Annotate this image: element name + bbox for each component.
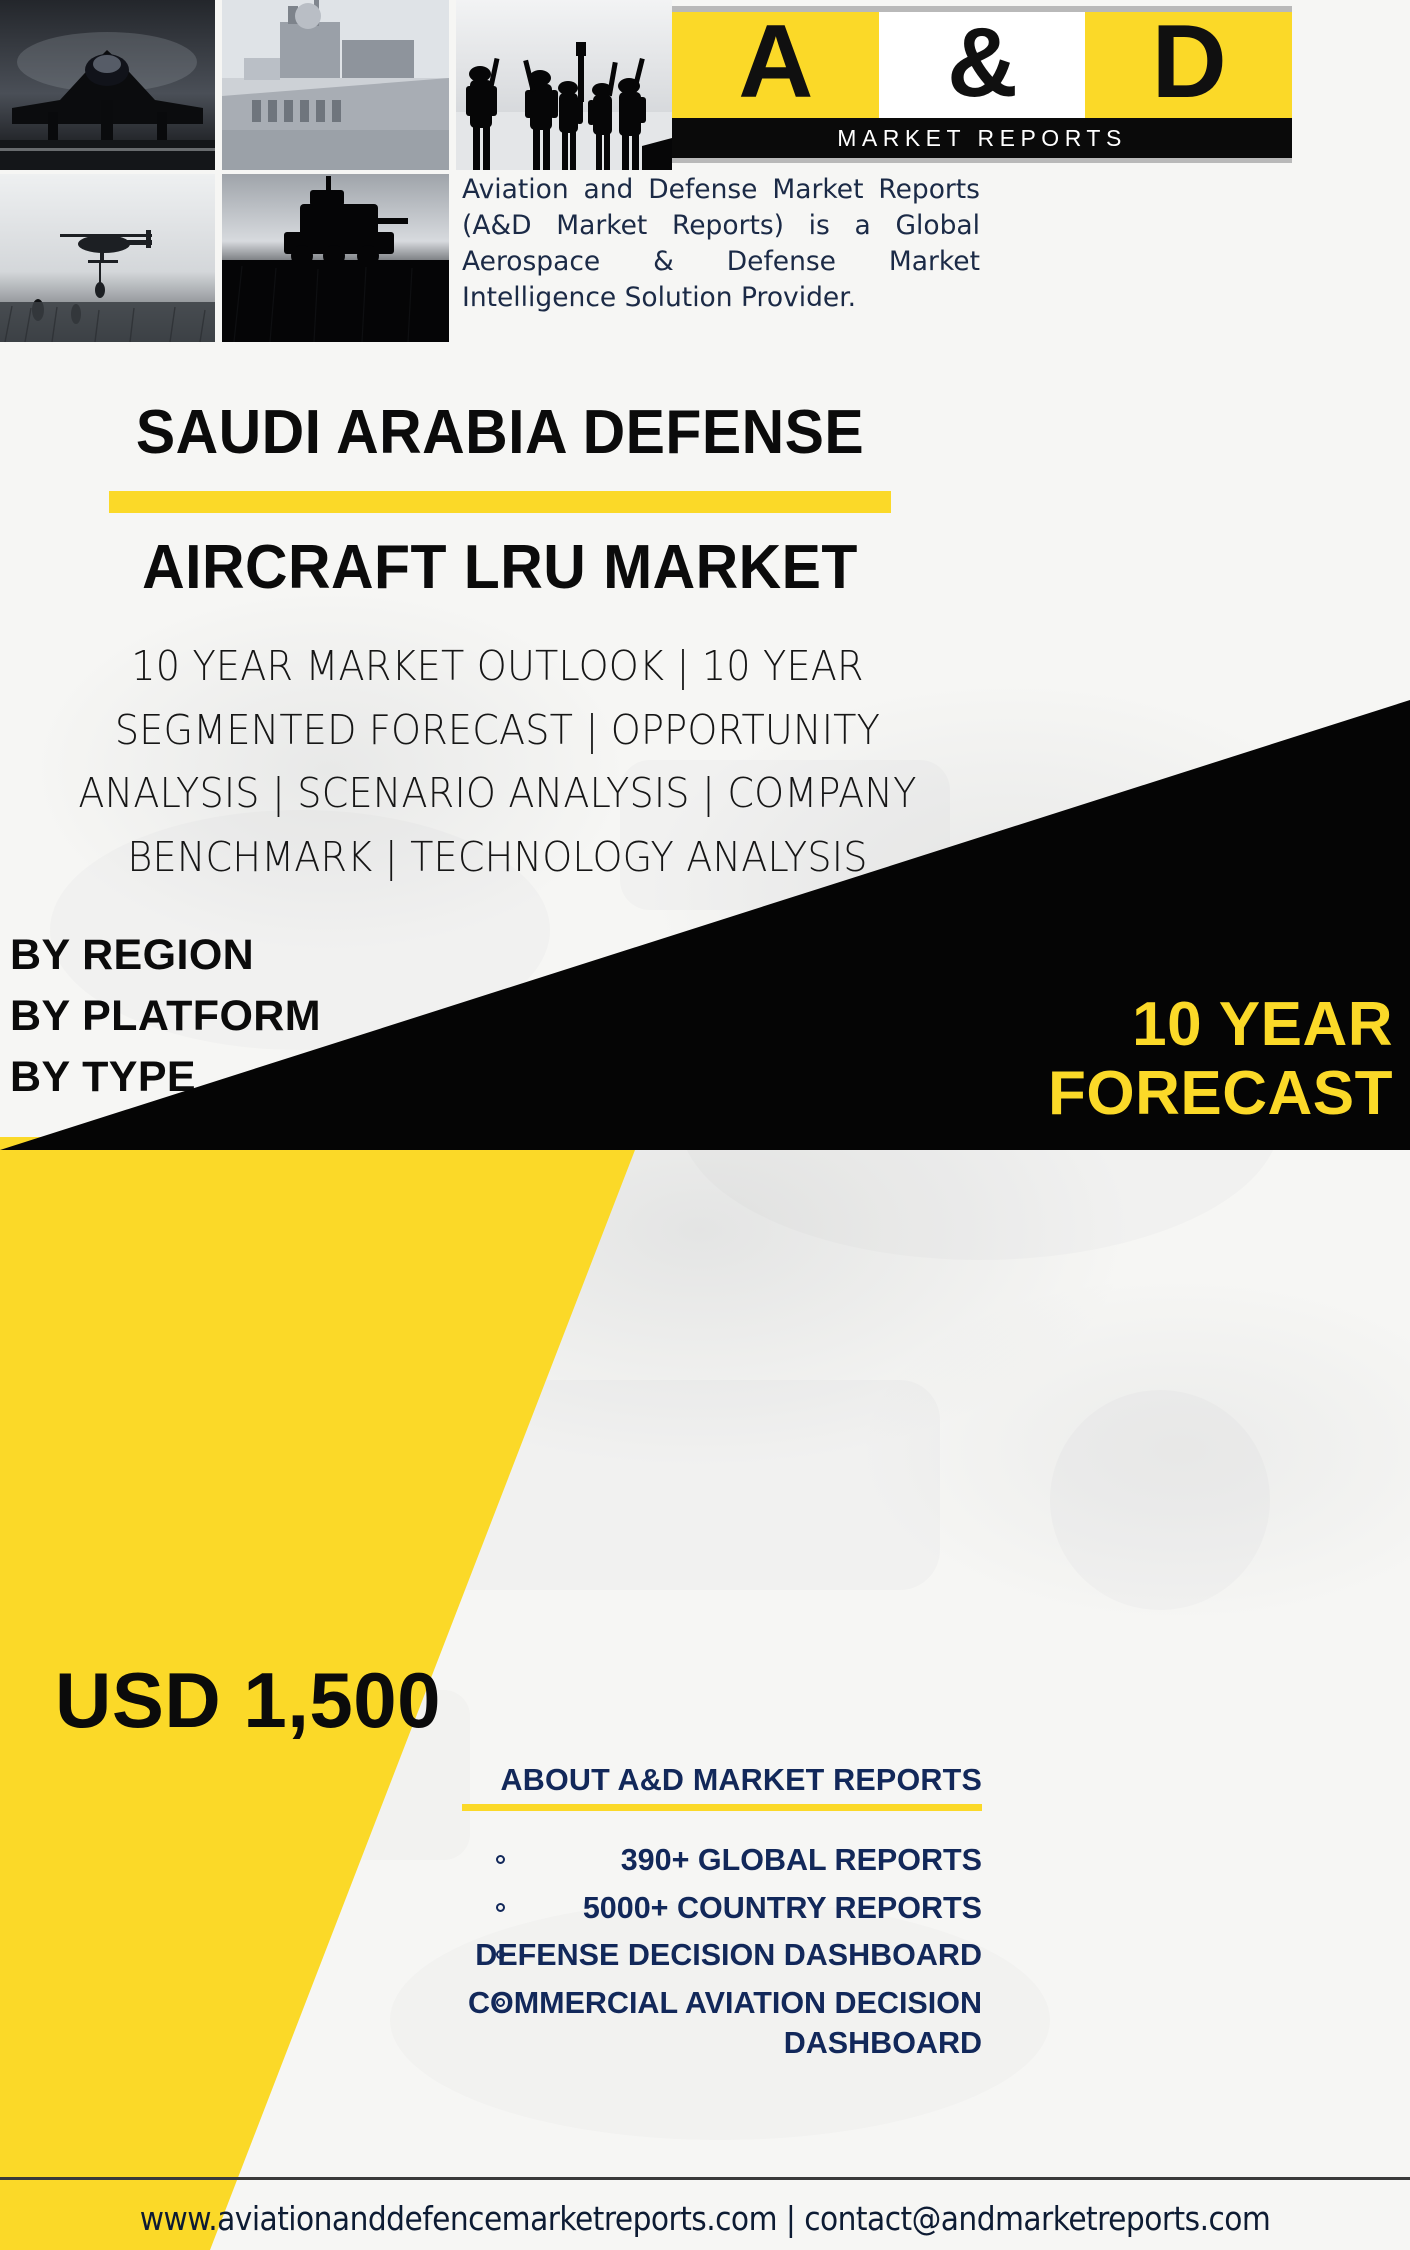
bullet-icon [496,1855,505,1864]
company-intro-paragraph: Aviation and Defense Market Reports (A&D… [462,172,980,316]
armored-vehicle-photo [222,174,449,342]
report-cover-poster: A & D MARKET REPORTS Aviation and Defens… [0,0,1410,2250]
logo-bottom-divider [672,158,1292,163]
helicopter-photo [0,174,215,342]
aircraft-carrier-photo [222,0,449,170]
bullet-icon [496,1998,505,2007]
about-list-item-label: 390+ GLOBAL REPORTS [621,1843,982,1877]
report-title-line1: SAUDI ARABIA DEFENSE [25,400,975,467]
segmentation-item-region: BY REGION [10,925,321,986]
logo-letter-a: A [672,6,879,118]
about-feature-list: 390+ GLOBAL REPORTS 5000+ COUNTRY REPORT… [462,1841,982,2063]
about-list-item-label: DEFENSE DECISION DASHBOARD [475,1938,982,1972]
fighter-jet-photo [0,0,215,170]
about-section-title: ABOUT A&D MARKET REPORTS [462,1763,982,1798]
forecast-badge-line2: FORECAST [560,1059,1393,1128]
bullet-icon [496,1903,505,1912]
about-list-item-label: COMMERCIAL AVIATION DECISION DASHBOARD [468,1986,982,2060]
forecast-badge: 10 YEAR FORECAST [560,990,1405,1129]
logo-letter-d: D [1085,6,1292,118]
forecast-badge-line1: 10 YEAR [560,990,1393,1059]
about-list-item: 390+ GLOBAL REPORTS [462,1841,982,1881]
about-list-item: 5000+ COUNTRY REPORTS [462,1889,982,1929]
about-title-underline [462,1804,982,1811]
logo-subtitle: MARKET REPORTS [672,118,1292,158]
report-subtitle: 10 YEAR MARKET OUTLOOK | 10 YEAR SEGMENT… [53,635,941,889]
segmentation-item-platform: BY PLATFORM [10,986,321,1047]
about-list-item: DEFENSE DECISION DASHBOARD [462,1936,982,1976]
report-title: SAUDI ARABIA DEFENSE AIRCRAFT LRU MARKET [0,400,1000,602]
about-section: ABOUT A&D MARKET REPORTS 390+ GLOBAL REP… [462,1763,982,2071]
footer-contact: www.aviationanddefencemarketreports.com … [71,2186,1340,2250]
report-title-line2: AIRCRAFT LRU MARKET [25,535,975,602]
about-list-item: COMMERCIAL AVIATION DECISION DASHBOARD [462,1984,982,2063]
about-list-item-label: 5000+ COUNTRY REPORTS [583,1891,982,1925]
brand-logo: A & D MARKET REPORTS [672,0,1410,160]
title-underline-bar [109,491,891,513]
footer-divider [0,2177,1410,2180]
price-label: USD 1,500 [55,1655,441,1746]
logo-top-divider [672,6,1292,12]
soldiers-silhouette-photo [456,0,672,170]
logo-ampersand: & [879,6,1086,118]
